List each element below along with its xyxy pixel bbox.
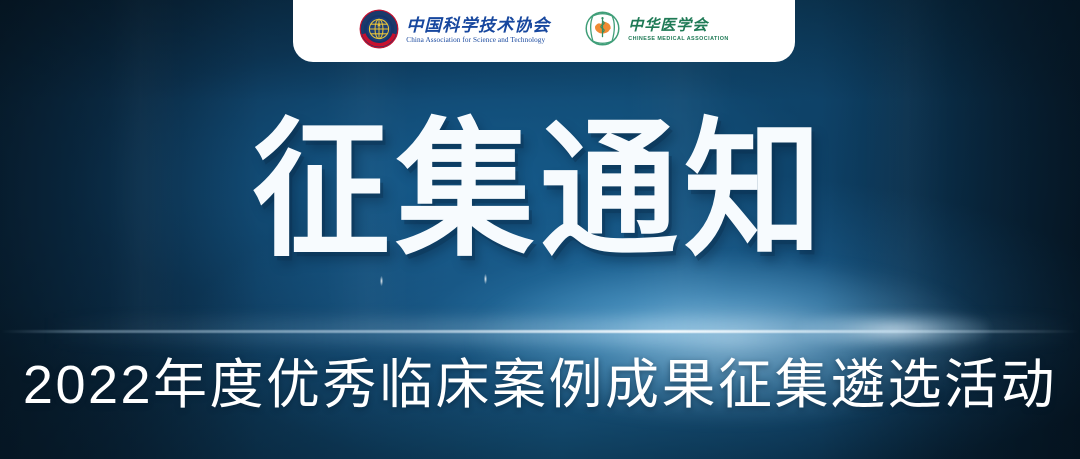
- cma-caduceus-icon: [584, 10, 621, 52]
- logo-band: 中国科学技术协会 China Association for Science a…: [293, 0, 795, 62]
- cast-logo-text: 中国科学技术协会 China Association for Science a…: [406, 17, 550, 44]
- cast-globe-icon: [359, 9, 399, 54]
- subtitle-area: 2022年度优秀临床案例成果征集遴选活动: [0, 358, 1080, 412]
- sparkle-icon: [380, 276, 383, 286]
- subtitle: 2022年度优秀临床案例成果征集遴选活动: [23, 358, 1057, 412]
- cma-name-en: CHINESE MEDICAL ASSOCIATION: [628, 37, 728, 43]
- cast-name-cn: 中国科学技术协会: [406, 17, 550, 35]
- logo-cast: 中国科学技术协会 China Association for Science a…: [359, 9, 550, 54]
- logo-cma: 中华医学会 CHINESE MEDICAL ASSOCIATION: [584, 10, 728, 52]
- cma-name-cn: 中华医学会: [628, 19, 728, 35]
- light-streak: [0, 330, 1080, 333]
- cma-logo-text: 中华医学会 CHINESE MEDICAL ASSOCIATION: [628, 19, 728, 42]
- main-title: 征集通知: [252, 116, 828, 265]
- cast-name-en: China Association for Science and Techno…: [406, 37, 550, 45]
- sparkle-icon: [484, 274, 487, 284]
- title-area: 征集通知: [0, 122, 1080, 260]
- poster-banner: 中国科学技术协会 China Association for Science a…: [0, 0, 1080, 459]
